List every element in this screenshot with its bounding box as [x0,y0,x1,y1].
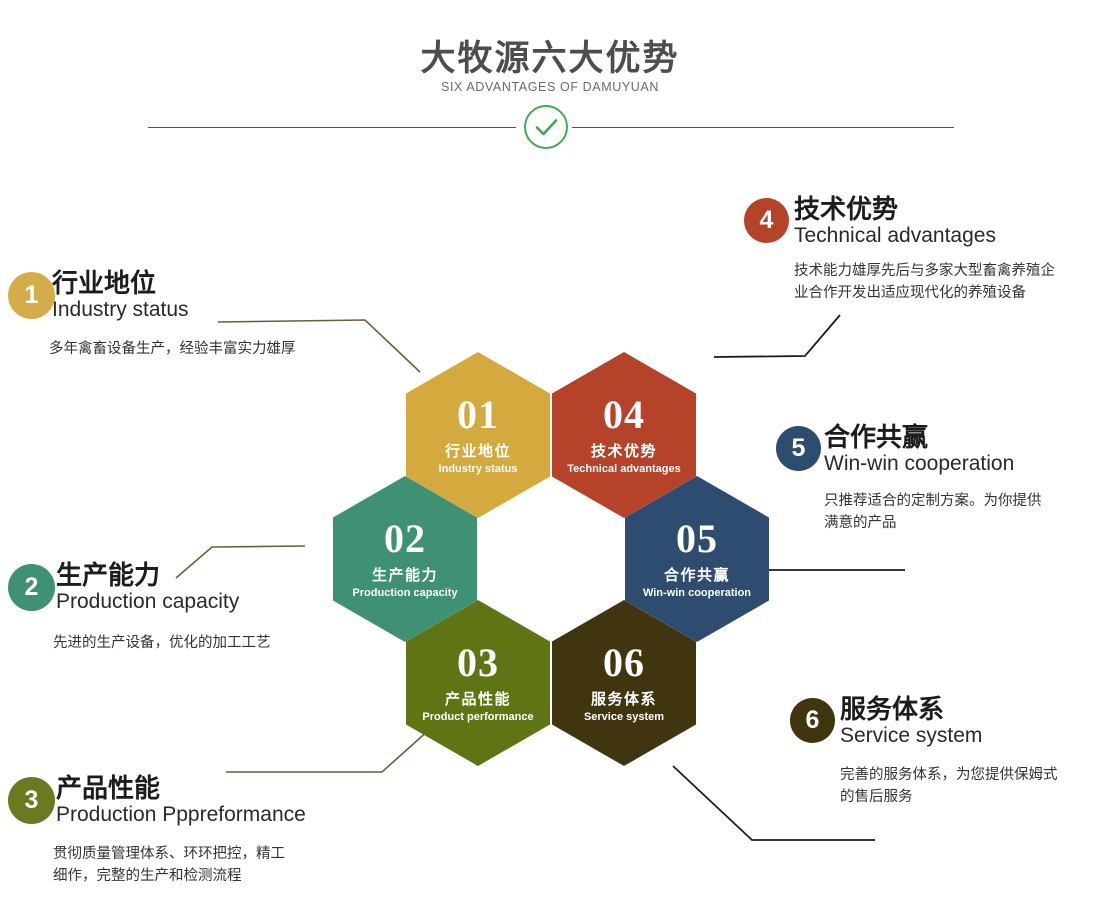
callout-5-badge: 5 [776,426,821,471]
hexagon-06-label-cn: 服务体系 [591,692,657,709]
page-subtitle: SIX ADVANTAGES OF DAMUYUAN [0,80,1100,94]
callout-2-desc-line: 先进的生产设备，优化的加工工艺 [53,632,271,654]
callout-5-title-cn: 合作共赢 [824,424,1014,451]
callout-3-badge: 3 [8,777,55,824]
hexagon-05-label-cn: 合作共赢 [664,568,730,585]
callout-6-badge: 6 [790,698,835,743]
callout-4-badge: 4 [744,198,789,243]
hexagon-01-label-cn: 行业地位 [445,444,511,461]
callout-4-title-cn: 技术优势 [794,196,996,223]
callout-3-title-en: Production Pppreformance [56,803,306,827]
callout-3-desc-line: 贯彻质量管理体系、环环把控，精工 [53,843,285,865]
callout-5-desc-line: 满意的产品 [824,512,1042,534]
callout-2-badge: 2 [8,564,55,611]
hexagon-05-number: 05 [676,519,718,559]
hexagon-06-number: 06 [603,643,645,683]
page-title: 大牧源六大优势 [0,30,1100,81]
hexagon-02-label-en: Production capacity [352,587,457,599]
header-rule-left [148,127,516,128]
callout-5-desc-line: 只推荐适合的定制方案。为你提供 [824,490,1042,512]
callout-6-desc-line: 的售后服务 [840,786,1058,808]
callout-6-desc-line: 完善的服务体系，为您提供保姆式 [840,764,1058,786]
infographic-canvas: 大牧源六大优势 SIX ADVANTAGES OF DAMUYUAN 01 行业… [0,0,1100,909]
callout-6-title-cn: 服务体系 [840,696,982,723]
callout-2-title-cn: 生产能力 [56,562,239,589]
callout-3-desc-line: 细作，完整的生产和检测流程 [53,865,285,887]
callout-4-desc-line: 业合作开发出适应现代化的养殖设备 [794,282,1055,304]
callout-1-desc-line: 多年禽畜设备生产，经验丰富实力雄厚 [49,338,296,360]
hexagon-01-label-en: Industry status [439,463,518,475]
callout-2-title-en: Production capacity [56,590,239,614]
callout-6-title-en: Service system [840,724,982,748]
hexagon-03-label-cn: 产品性能 [445,692,511,709]
hexagon-03-number: 03 [457,643,499,683]
callout-1-title-cn: 行业地位 [52,270,189,297]
hexagon-05-label-en: Win-win cooperation [643,587,751,599]
hexagon-02-label-cn: 生产能力 [372,568,438,585]
header-rule-right [572,127,954,128]
callout-1-title-en: Industry status [52,298,189,322]
callout-5-title-en: Win-win cooperation [824,452,1014,476]
hexagon-01-number: 01 [457,395,499,435]
callout-1-badge: 1 [8,272,55,319]
hexagon-04-label-en: Technical advantages [567,463,681,475]
hexagon-cluster: 01 行业地位 Industry status 04 技术优势 Technica… [330,352,750,732]
hexagon-06-label-en: Service system [584,711,664,723]
callout-4-desc-line: 技术能力雄厚先后与多家大型畜禽养殖企 [794,260,1055,282]
callout-3-title-cn: 产品性能 [56,775,306,802]
hexagon-02-number: 02 [384,519,426,559]
check-circle-icon [524,105,568,149]
hexagon-04-label-cn: 技术优势 [591,444,657,461]
callout-4-title-en: Technical advantages [794,224,996,248]
hexagon-03-label-en: Product performance [422,711,533,723]
hexagon-04-number: 04 [603,395,645,435]
